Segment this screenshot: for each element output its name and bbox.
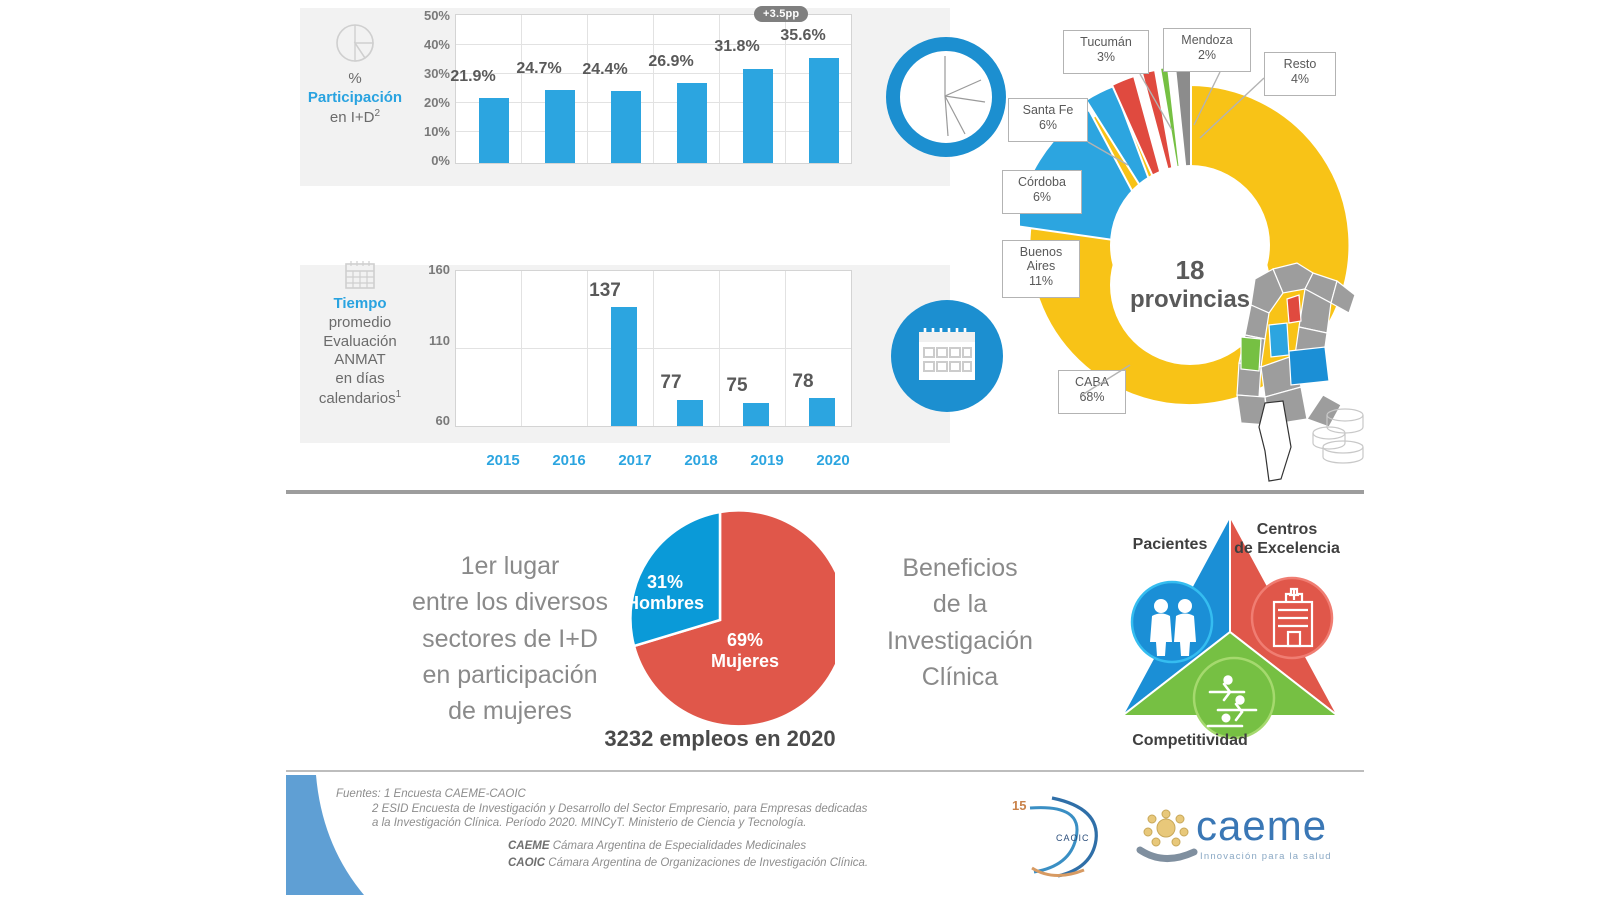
footer-source-1: Fuentes: 1 Encuesta CAEME-CAOIC: [336, 788, 526, 800]
chart1-label-2019: 31.8%: [700, 38, 774, 56]
footer-caoic-text: Cámara Argentina de Organizaciones de In…: [545, 857, 868, 869]
triangle-label-centros-l2: de Excelencia: [1212, 539, 1362, 558]
map-prov-blue2: [1289, 347, 1329, 385]
footer-caeme-text: Cámara Argentina de Especialidades Medic…: [550, 840, 807, 852]
section-divider-top: [286, 490, 1364, 494]
chart1-ytick-1: 40%: [408, 37, 450, 52]
calendar-glyph: [891, 300, 1003, 412]
participacion-label-sub: en I+D2: [300, 108, 410, 128]
chart2-ytick-1: 110: [408, 333, 450, 348]
xtick-2020: 2020: [796, 452, 870, 469]
chart1-ytick-4: 10%: [408, 124, 450, 139]
chart1-delta-badge: +3.5pp: [754, 6, 808, 22]
footer-caoic-def: CAOIC Cámara Argentina de Organizaciones…: [508, 857, 868, 869]
chart2-bar-2019: [743, 403, 769, 426]
footer-caeme-acronym: CAEME: [508, 840, 550, 852]
pie-label-mujeres-pct: 69%: [690, 630, 800, 651]
participacion-label-block: % Participación en I+D2: [300, 22, 410, 127]
xtick-2016: 2016: [532, 452, 606, 469]
donut-ring-icon: [886, 37, 1006, 157]
chart1-bar-2018: [677, 83, 707, 163]
chart2-label-2019: 75: [700, 375, 774, 397]
donut-ring-slices: [899, 50, 991, 142]
xtick-2019: 2019: [730, 452, 804, 469]
tiempo-label-block: Tiempo promedio Evaluación ANMAT en días…: [300, 258, 420, 409]
tiempo-label-title: Tiempo: [300, 295, 420, 314]
benefits-line-1: Beneficios: [845, 550, 1075, 586]
chart2-bar-2017: [611, 307, 637, 426]
pie-label-mujeres-text: Mujeres: [690, 651, 800, 672]
patients-icon: [1132, 582, 1212, 662]
chart1-label-2018: 26.9%: [634, 53, 708, 71]
chart2-label-2020: 78: [766, 371, 840, 393]
footer-caeme-def: CAEME Cámara Argentina de Especialidades…: [508, 840, 806, 852]
tiempo-label-l5: en días: [300, 370, 420, 389]
calendar-circle-icon: [891, 300, 1003, 412]
tiempo-label-l6: calendarios1: [300, 389, 420, 409]
chart2-label-2018: 77: [634, 372, 708, 394]
footer-source-2: 2 ESID Encuesta de Investigación y Desar…: [372, 803, 867, 815]
argentina-map-icon: [1225, 255, 1400, 490]
gender-pie-chart: [605, 505, 835, 735]
chart2-label-2017: 137: [568, 280, 642, 302]
benefits-line-3: Investigación: [845, 623, 1075, 659]
participacion-label-title: Participación: [300, 89, 410, 108]
section-divider-bottom: [286, 770, 1364, 772]
chart2-ytick-2: 60: [408, 413, 450, 428]
pie-caption: 3232 empleos en 2020: [580, 726, 860, 752]
caoic-logo-15: 15: [1012, 798, 1026, 813]
chart2-plot: [455, 270, 852, 427]
pie-label-hombres: 31% Hombres: [610, 572, 720, 613]
pie-label-mujeres: 69% Mujeres: [690, 630, 800, 671]
chart2-ytick-0: 160: [408, 262, 450, 277]
xtick-2015: 2015: [466, 452, 540, 469]
chart1-bar-2017: [611, 91, 641, 163]
chart1-label-2017: 24.4%: [568, 61, 642, 79]
chart1-bar-2020: [809, 58, 839, 163]
chart2-bar-2018: [677, 400, 703, 426]
chart1-bar-2016: [545, 90, 575, 163]
benefits-line-4: Clínica: [845, 659, 1075, 695]
participacion-label-pct: %: [300, 70, 410, 89]
triangle-label-competitividad: Competitividad: [1110, 731, 1270, 750]
tiempo-label-l2: promedio: [300, 314, 420, 333]
pie-label-hombres-pct: 31%: [610, 572, 720, 593]
xtick-2017: 2017: [598, 452, 672, 469]
calendar-outline-icon: [343, 258, 377, 292]
chart2-bar-2020: [809, 398, 835, 426]
map-prov-blue1: [1269, 323, 1289, 357]
chart1-bar-2015: [479, 98, 509, 163]
tiempo-label-l3: Evaluación: [300, 333, 420, 352]
chart1-label-2015: 21.9%: [436, 68, 510, 86]
footer-caoic-acronym: CAOIC: [508, 857, 545, 869]
benefits-title: Beneficios de la Investigación Clínica: [845, 550, 1075, 695]
chart1-ytick-5: 0%: [408, 153, 450, 168]
caeme-logo-word: caeme: [1196, 802, 1327, 850]
map-prov-green: [1241, 337, 1261, 371]
chart1-bar-2019: [743, 69, 773, 163]
chart1-label-2016: 24.7%: [502, 60, 576, 78]
caeme-logo-tagline: Innovación para la salud: [1200, 851, 1332, 862]
caoic-logo-text: CAOIC: [1056, 833, 1090, 843]
chart1-ytick-3: 20%: [408, 95, 450, 110]
infographic-root: % Participación en I+D2 50% 40% 30% 20% …: [0, 0, 1600, 900]
tiempo-label-l4: ANMAT: [300, 351, 420, 370]
triangle-label-centros: Centros de Excelencia: [1212, 520, 1362, 558]
map-prov-red: [1287, 295, 1301, 323]
chart1-label-2020: 35.6%: [766, 27, 840, 45]
xtick-2018: 2018: [664, 452, 738, 469]
footer-source-3: a la Investigación Clínica. Período 2020…: [372, 817, 806, 829]
caeme-logo-mark: [1136, 808, 1198, 866]
pie-label-hombres-text: Hombres: [610, 593, 720, 614]
triangle-label-centros-l1: Centros: [1212, 520, 1362, 539]
pie-chart-outline-icon: [332, 22, 378, 66]
chart1-ytick-0: 50%: [408, 8, 450, 23]
benefits-line-2: de la: [845, 586, 1075, 622]
